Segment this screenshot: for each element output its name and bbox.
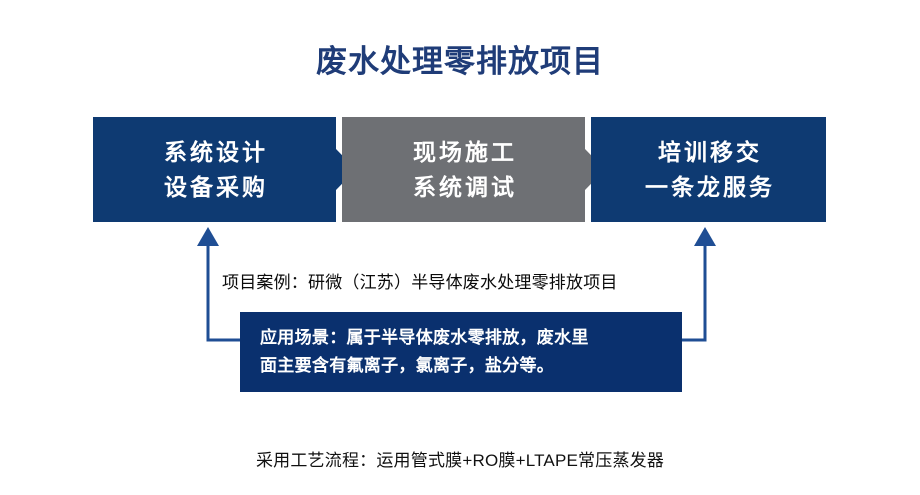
- scenario-info-box: 应用场景：属于半导体废水零排放，废水里 面主要含有氟离子，氯离子，盐分等。: [240, 312, 682, 392]
- process-step-label-line1: 现场施工: [410, 135, 517, 169]
- process-step-label-line1: 培训移交: [655, 135, 762, 169]
- scenario-text-line2: 面主要含有氟离子，氯离子，盐分等。: [260, 352, 662, 380]
- process-step-design-procurement[interactable]: 系统设计 设备采购: [93, 117, 336, 222]
- right-callout-arrow: [682, 227, 716, 340]
- process-step-label-line2: 系统调试: [410, 170, 517, 204]
- process-flow-diagram: 系统设计 设备采购 现场施工 系统调试 培训移交 一条龙服务: [93, 117, 826, 222]
- process-step-label-line2: 设备采购: [161, 170, 268, 204]
- process-step-construction-commissioning[interactable]: 现场施工 系统调试: [342, 117, 585, 222]
- page-title: 废水处理零排放项目: [0, 36, 920, 81]
- case-caption: 项目案例：研微（江苏）半导体废水处理零排放项目: [222, 268, 618, 293]
- process-step-training-handover[interactable]: 培训移交 一条龙服务: [591, 117, 826, 222]
- process-note: 采用工艺流程：运用管式膜+RO膜+LTAPE常压蒸发器: [0, 446, 920, 471]
- scenario-text-line1: 应用场景：属于半导体废水零排放，废水里: [260, 324, 662, 352]
- process-step-label-line1: 系统设计: [161, 135, 268, 169]
- process-step-label-line2: 一条龙服务: [642, 170, 775, 204]
